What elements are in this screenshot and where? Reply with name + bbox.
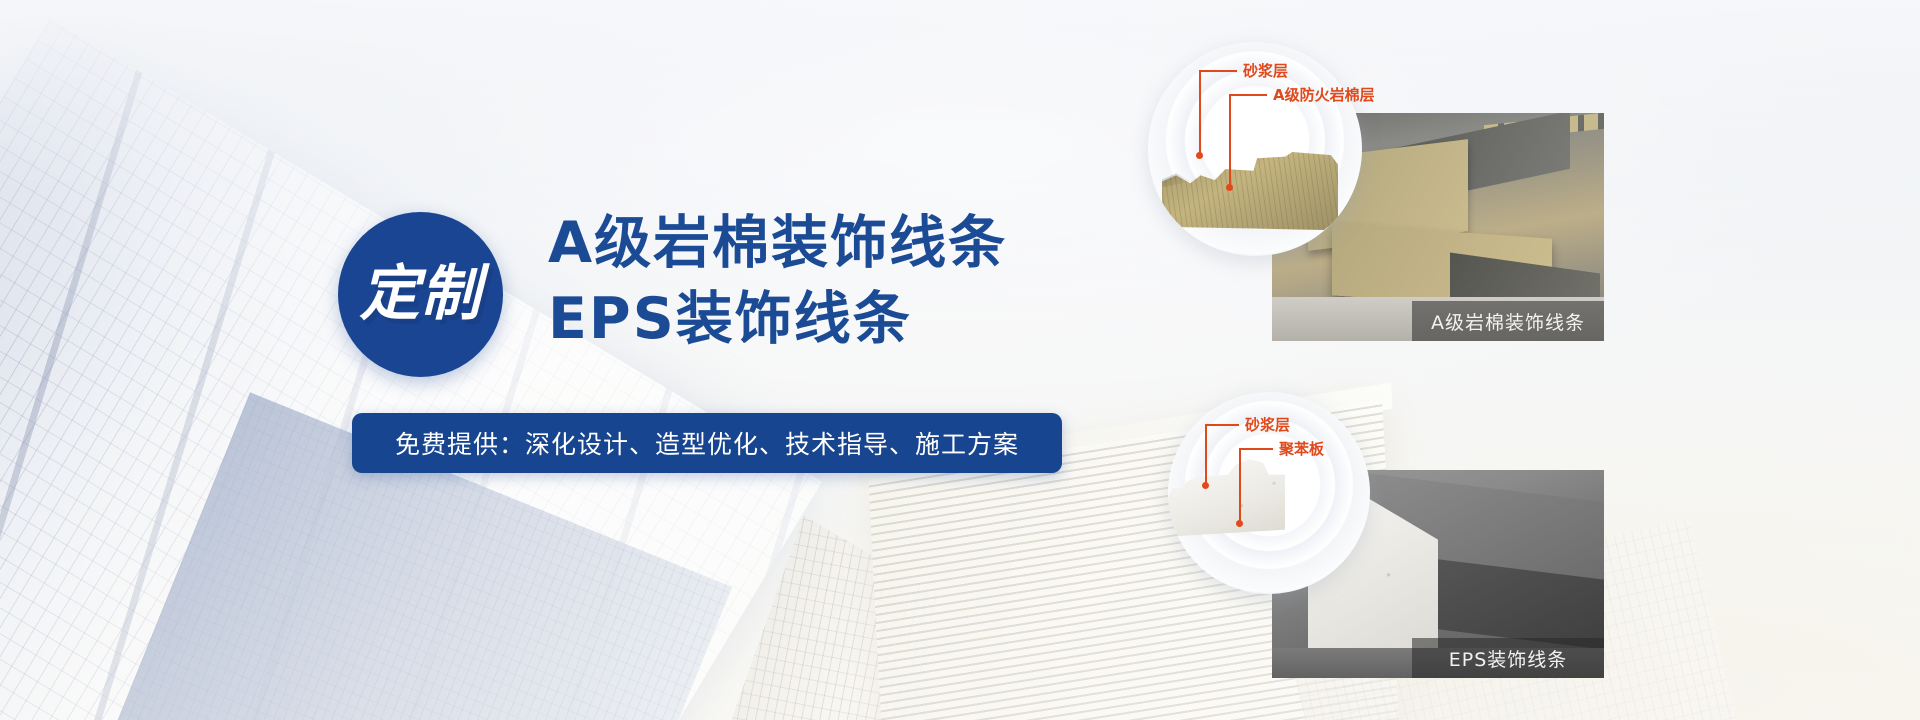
promo-bar-label: 免费提供：深化设计、造型优化、技术指导、施工方案: [395, 425, 1019, 461]
headline-line-1: A级岩棉装饰线条: [548, 206, 1007, 282]
callout-rockwool-core-label: A级防火岩棉层: [1273, 84, 1375, 105]
custom-badge: 定制: [338, 212, 503, 377]
page-title: A级岩棉装饰线条 EPS装饰线条: [548, 206, 1007, 358]
callout-eps-foam-label: 聚苯板: [1279, 438, 1324, 459]
callout-rockwool-core: A级防火岩棉层: [1215, 88, 1475, 208]
callout-rockwool-mortar-label: 砂浆层: [1243, 60, 1288, 81]
product-caption-rockwool: A级岩棉装饰线条: [1412, 301, 1604, 341]
callout-eps-foam: 聚苯板: [1225, 442, 1445, 552]
promo-bar: 免费提供：深化设计、造型优化、技术指导、施工方案: [352, 413, 1062, 473]
callout-eps-mortar-label: 砂浆层: [1245, 414, 1290, 435]
headline-line-2: EPS装饰线条: [548, 282, 1007, 358]
promo-banner: 定制 A级岩棉装饰线条 EPS装饰线条 免费提供：深化设计、造型优化、技术指导、…: [0, 0, 1920, 720]
product-caption-eps: EPS装饰线条: [1412, 638, 1604, 678]
background-haze: [0, 0, 1920, 720]
custom-badge-label: 定制: [360, 264, 482, 324]
